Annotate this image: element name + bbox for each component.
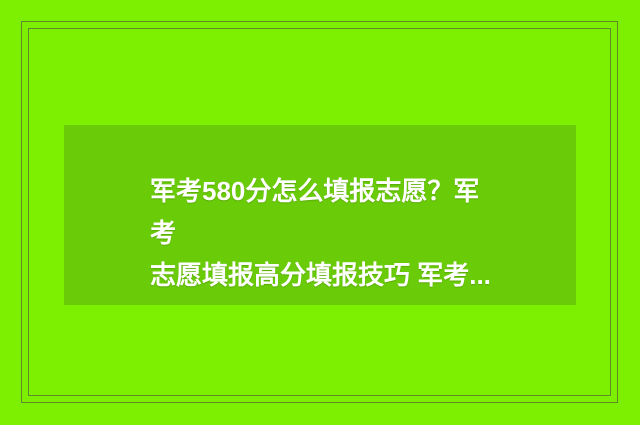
headline-text: 军考580分怎么填报志愿？军考 志愿填报高分填报技巧 军考... <box>150 170 500 296</box>
poster-canvas: 军考580分怎么填报志愿？军考 志愿填报高分填报技巧 军考... <box>0 0 640 425</box>
